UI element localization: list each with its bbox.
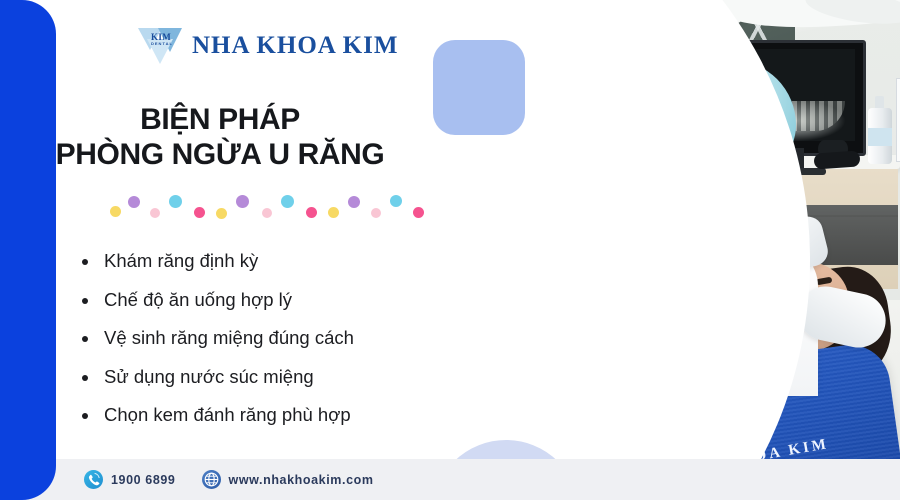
footer-phone[interactable]: 1900 6899	[84, 470, 176, 489]
protective-glasses	[813, 150, 860, 169]
sanitizer-label	[868, 128, 892, 146]
decor-dot	[194, 207, 205, 218]
headline-line-2: PHÒNG NGỪA U RĂNG	[0, 137, 440, 172]
decor-dot	[413, 207, 424, 218]
footer-website[interactable]: www.nhakhoakim.com	[202, 470, 374, 489]
decor-dot	[110, 206, 121, 217]
decor-dot	[348, 196, 360, 208]
wall-chart	[896, 78, 900, 162]
list-item: Chọn kem đánh răng phù hợp	[78, 406, 448, 425]
decor-dot	[306, 207, 317, 218]
poster-canvas: KIM DENTAL NHA KHOA KIM NHA KHOA KIM	[0, 0, 900, 500]
list-item: Sử dụng nước súc miệng	[78, 368, 448, 387]
decor-dot	[169, 195, 182, 208]
decor-rounded-square	[433, 40, 525, 135]
decor-dot	[216, 208, 227, 219]
phone-icon	[84, 470, 103, 489]
phone-number: 1900 6899	[111, 473, 176, 487]
brand-logo[interactable]: KIM DENTAL NHA KHOA KIM	[138, 28, 398, 64]
page-title: BIỆN PHÁP PHÒNG NGỪA U RĂNG	[0, 102, 440, 173]
headline-line-1: BIỆN PHÁP	[0, 102, 440, 137]
diamond-icon: KIM DENTAL	[138, 28, 182, 64]
decor-dot-divider	[110, 192, 390, 224]
decor-dot	[128, 196, 140, 208]
prevention-list: Khám răng định kỳChế độ ăn uống hợp lýVệ…	[78, 252, 448, 445]
decor-dot	[236, 195, 249, 208]
list-item: Chế độ ăn uống hợp lý	[78, 291, 448, 310]
decor-dot	[281, 195, 294, 208]
decor-dot	[262, 208, 272, 218]
brand-name: NHA KHOA KIM	[192, 32, 398, 60]
footer-bar: 1900 6899 www.nhakhoakim.com	[0, 459, 900, 500]
logo-dental-text: DENTAL	[151, 41, 173, 46]
decor-dot	[150, 208, 160, 218]
decor-dot	[328, 207, 339, 218]
left-content: KIM DENTAL NHA KHOA KIM BIỆN PHÁP PHÒNG …	[0, 0, 440, 500]
website-url: www.nhakhoakim.com	[229, 473, 374, 487]
list-item: Khám răng định kỳ	[78, 252, 448, 271]
decor-dot	[390, 195, 402, 207]
decor-dot	[371, 208, 381, 218]
list-item: Vệ sinh răng miệng đúng cách	[78, 329, 448, 348]
globe-icon	[202, 470, 221, 489]
